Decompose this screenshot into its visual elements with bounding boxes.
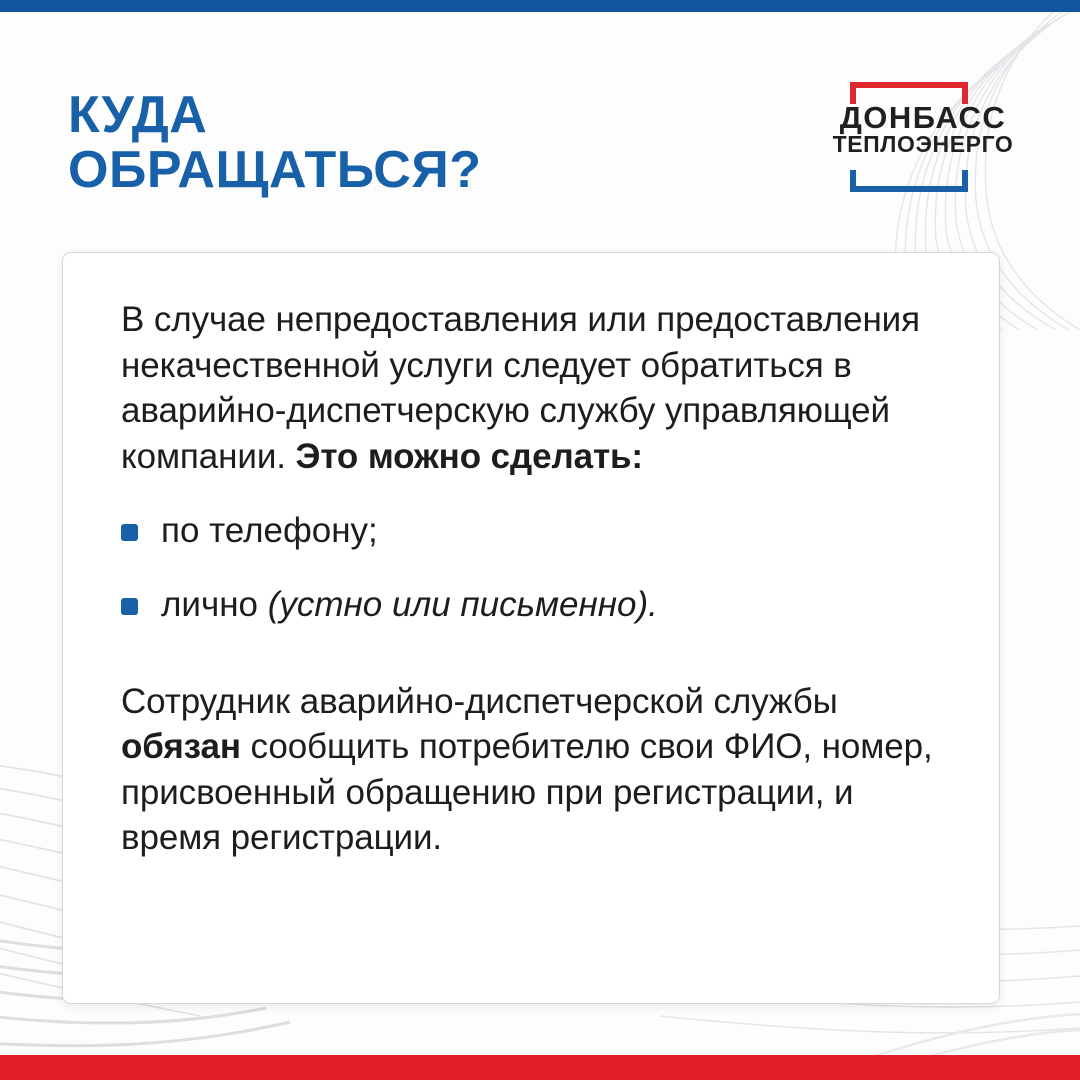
square-bullet-icon — [121, 524, 138, 541]
page-title: КУДА ОБРАЩАТЬСЯ? — [68, 88, 481, 198]
paragraph-duty-part1: Сотрудник аварийно-диспетчерской службы — [121, 682, 838, 721]
list-item-italic: (устно или письменно). — [268, 585, 658, 624]
square-bullet-icon — [121, 598, 138, 615]
list-item-label: по телефону; — [161, 509, 378, 553]
top-blue-band — [0, 0, 1080, 12]
logo-word-main: ДОНБАСС — [828, 102, 1018, 133]
list-item-plain: лично — [161, 585, 268, 624]
list-item-label: лично (устно или письменно). — [161, 583, 658, 627]
logo-bracket-bottom-icon — [850, 170, 968, 192]
poster-canvas: КУДА ОБРАЩАТЬСЯ? ДОНБАСС ТЕПЛОЭНЕРГО В с… — [0, 0, 1080, 1080]
content-card: В случае непредоставления или предоставл… — [62, 252, 1000, 1004]
brand-logo: ДОНБАСС ТЕПЛОЭНЕРГО — [828, 82, 1018, 194]
paragraph-duty-part2: сообщить потребителю свои ФИО, номер, пр… — [121, 727, 933, 857]
options-list: по телефону; лично (устно или письменно)… — [121, 509, 941, 627]
list-item: по телефону; — [121, 509, 941, 553]
list-item: лично (устно или письменно). — [121, 583, 941, 627]
paragraph-intro: В случае непредоставления или предоставл… — [121, 297, 941, 479]
paragraph-duty-bold: обязан — [121, 727, 241, 766]
list-item-plain: по телефону; — [161, 511, 378, 550]
logo-word-sub: ТЕПЛОЭНЕРГО — [828, 133, 1018, 156]
bottom-red-band — [0, 1055, 1080, 1080]
paragraph-duty: Сотрудник аварийно-диспетчерской службы … — [121, 679, 941, 861]
paragraph-intro-bold: Это можно сделать: — [296, 437, 643, 476]
